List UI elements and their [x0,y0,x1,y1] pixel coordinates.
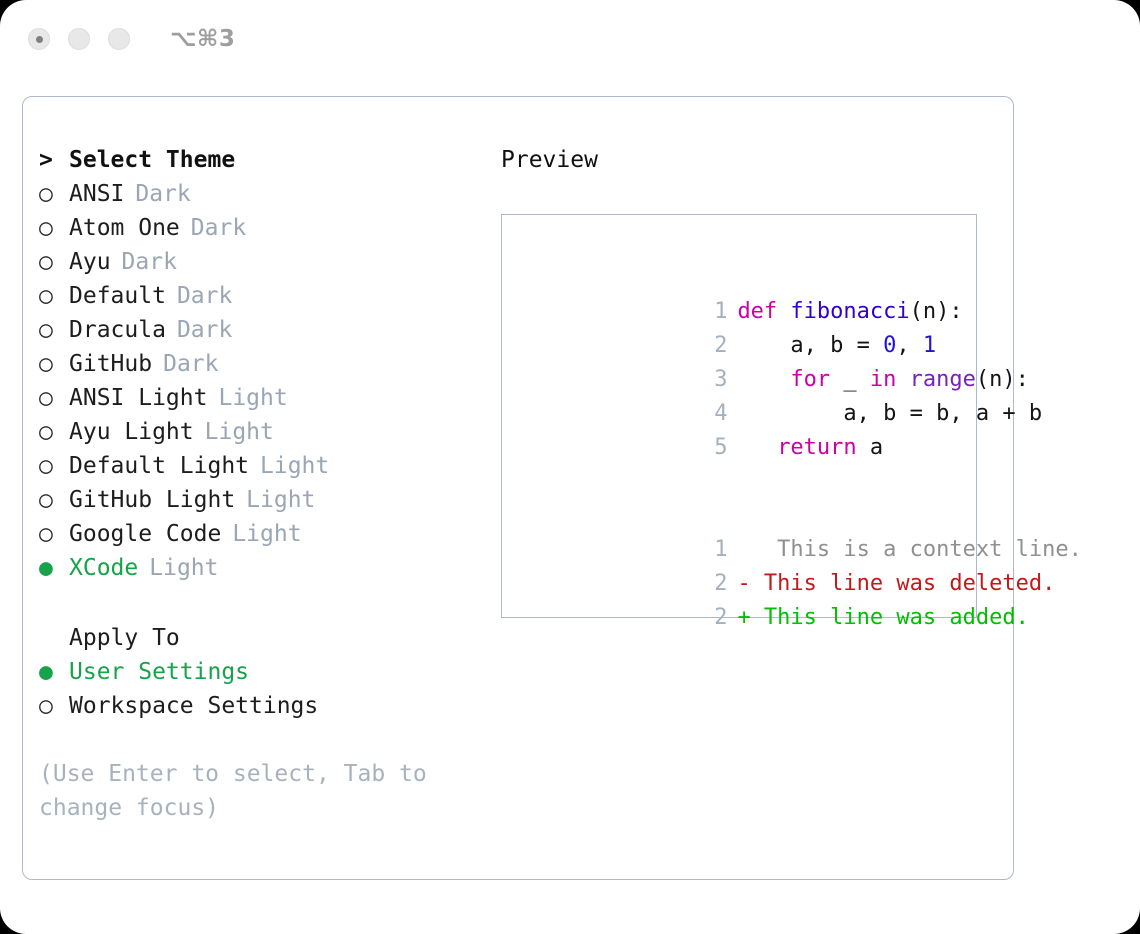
theme-picker-heading-label: Select Theme [69,143,235,177]
preview-section: Preview 1def fibonacci(n): 2 a, b = 0, 1… [501,143,1001,618]
radio-unselected-icon[interactable]: ○ [39,415,69,449]
code-token [896,367,909,392]
radio-unselected-icon[interactable]: ○ [39,517,69,551]
keyboard-hint-line-1: (Use Enter to select, Tab to [39,757,449,791]
theme-item-ayu-dark[interactable]: ○ Ayu Dark [39,245,499,279]
theme-item-label: GitHub [69,347,152,381]
code-token [737,367,790,392]
theme-item-variant: Dark [163,347,218,381]
theme-item-ayu-light[interactable]: ○ Ayu Light Light [39,415,499,449]
theme-item-variant: Dark [191,211,246,245]
apply-to-heading: Apply To [39,621,499,655]
code-token: (n): [976,367,1029,392]
code-token: return [777,435,856,460]
theme-item-label: Atom One [69,211,180,245]
theme-item-label: Ayu Light [69,415,194,449]
theme-item-github-light[interactable]: ○ GitHub Light Light [39,483,499,517]
diff-text: This is a context line. [751,537,1082,562]
code-token: in [870,367,897,392]
theme-item-variant: Dark [122,245,177,279]
radio-unselected-icon[interactable]: ○ [39,347,69,381]
theme-item-variant: Dark [177,279,232,313]
code-token: 1 [923,333,936,358]
theme-item-label: XCode [69,551,138,585]
line-number: 4 [705,397,727,431]
code-token: a [857,435,884,460]
code-line: 1def fibonacci(n): [520,261,968,295]
theme-item-default-dark[interactable]: ○ Default Dark [39,279,499,313]
theme-item-variant: Light [246,483,315,517]
maximize-dot[interactable] [108,28,130,50]
theme-item-variant: Light [149,551,218,585]
theme-item-label: ANSI Light [69,381,207,415]
main-panel: > Select Theme ○ ANSI Dark ○ Atom One Da… [22,96,1014,880]
diff-marker: - [737,571,750,596]
apply-to-item-label: Workspace Settings [69,689,318,723]
code-token: a, b = [737,333,883,358]
app-window: ⌥⌘3 > Select Theme ○ ANSI Dark ○ Atom On… [0,0,1140,934]
diff-marker [737,537,750,562]
line-number: 5 [705,431,727,465]
theme-item-github-dark[interactable]: ○ GitHub Dark [39,347,499,381]
code-token: a, b = b, a + b [737,401,1042,426]
close-dot-inner [36,36,43,43]
theme-item-label: GitHub Light [69,483,235,517]
theme-picker-heading: > Select Theme [39,143,499,177]
theme-picker: > Select Theme ○ ANSI Dark ○ Atom One Da… [39,143,499,825]
apply-to-workspace-settings[interactable]: ○ Workspace Settings [39,689,499,723]
theme-item-label: ANSI [69,177,124,211]
code-token: range [910,367,976,392]
theme-item-variant: Dark [135,177,190,211]
line-number: 1 [705,295,727,329]
theme-item-variant: Light [218,381,287,415]
code-token: for [790,367,830,392]
line-number: 2 [705,567,727,601]
theme-item-default-light[interactable]: ○ Default Light Light [39,449,499,483]
theme-item-ansi-dark[interactable]: ○ ANSI Dark [39,177,499,211]
apply-to-user-settings[interactable]: ● User Settings [39,655,499,689]
diff-text: This line was added. [751,605,1029,630]
code-token: (n): [910,299,963,324]
radio-unselected-icon[interactable]: ○ [39,211,69,245]
code-token: def [737,299,790,324]
radio-selected-icon[interactable]: ● [39,551,69,585]
theme-item-ansi-light[interactable]: ○ ANSI Light Light [39,381,499,415]
apply-to-item-label: User Settings [69,655,249,689]
theme-item-label: Default Light [69,449,249,483]
close-dot[interactable] [28,28,50,50]
panel-body: > Select Theme ○ ANSI Dark ○ Atom One Da… [23,97,1013,879]
window-shortcut-label: ⌥⌘3 [170,26,235,52]
line-number: 3 [705,363,727,397]
radio-unselected-icon[interactable]: ○ [39,245,69,279]
theme-item-atom-one-dark[interactable]: ○ Atom One Dark [39,211,499,245]
code-preview: 1def fibonacci(n): 2 a, b = 0, 1 3 for _… [520,261,968,601]
code-token: 0 [883,333,896,358]
apply-to-heading-label: Apply To [69,621,180,655]
theme-item-xcode[interactable]: ● XCode Light [39,551,499,585]
code-token: fibonacci [790,299,909,324]
theme-item-variant: Light [205,415,274,449]
radio-unselected-icon[interactable]: ○ [39,449,69,483]
code-token [737,435,777,460]
minimize-dot[interactable] [68,28,90,50]
diff-line-context: 1 This is a context line. [520,499,968,533]
diff-text: This line was deleted. [751,571,1056,596]
diff-marker: + [737,605,750,630]
preview-box: 1def fibonacci(n): 2 a, b = 0, 1 3 for _… [501,214,977,618]
theme-item-label: Google Code [69,517,221,551]
theme-item-variant: Light [232,517,301,551]
theme-item-label: Default [69,279,166,313]
code-token: _ [830,367,870,392]
radio-unselected-icon[interactable]: ○ [39,279,69,313]
theme-item-google-code[interactable]: ○ Google Code Light [39,517,499,551]
radio-unselected-icon[interactable]: ○ [39,177,69,211]
preview-title: Preview [501,143,1001,177]
code-token: , [896,333,923,358]
line-number: 1 [705,533,727,567]
caret-icon: > [39,143,69,177]
theme-item-variant: Dark [177,313,232,347]
radio-unselected-icon[interactable]: ○ [39,313,69,347]
line-number: 2 [705,601,727,635]
theme-item-dracula-dark[interactable]: ○ Dracula Dark [39,313,499,347]
radio-unselected-icon[interactable]: ○ [39,381,69,415]
radio-unselected-icon[interactable]: ○ [39,689,69,723]
window-titlebar: ⌥⌘3 [0,0,1140,78]
keyboard-hint-line-2: change focus) [39,791,449,825]
theme-item-label: Ayu [69,245,111,279]
radio-selected-icon[interactable]: ● [39,655,69,689]
theme-item-variant: Light [260,449,329,483]
line-number: 2 [705,329,727,363]
section-spacer [39,585,499,621]
keyboard-hint: (Use Enter to select, Tab to change focu… [39,757,449,825]
theme-item-label: Dracula [69,313,166,347]
radio-unselected-icon[interactable]: ○ [39,483,69,517]
